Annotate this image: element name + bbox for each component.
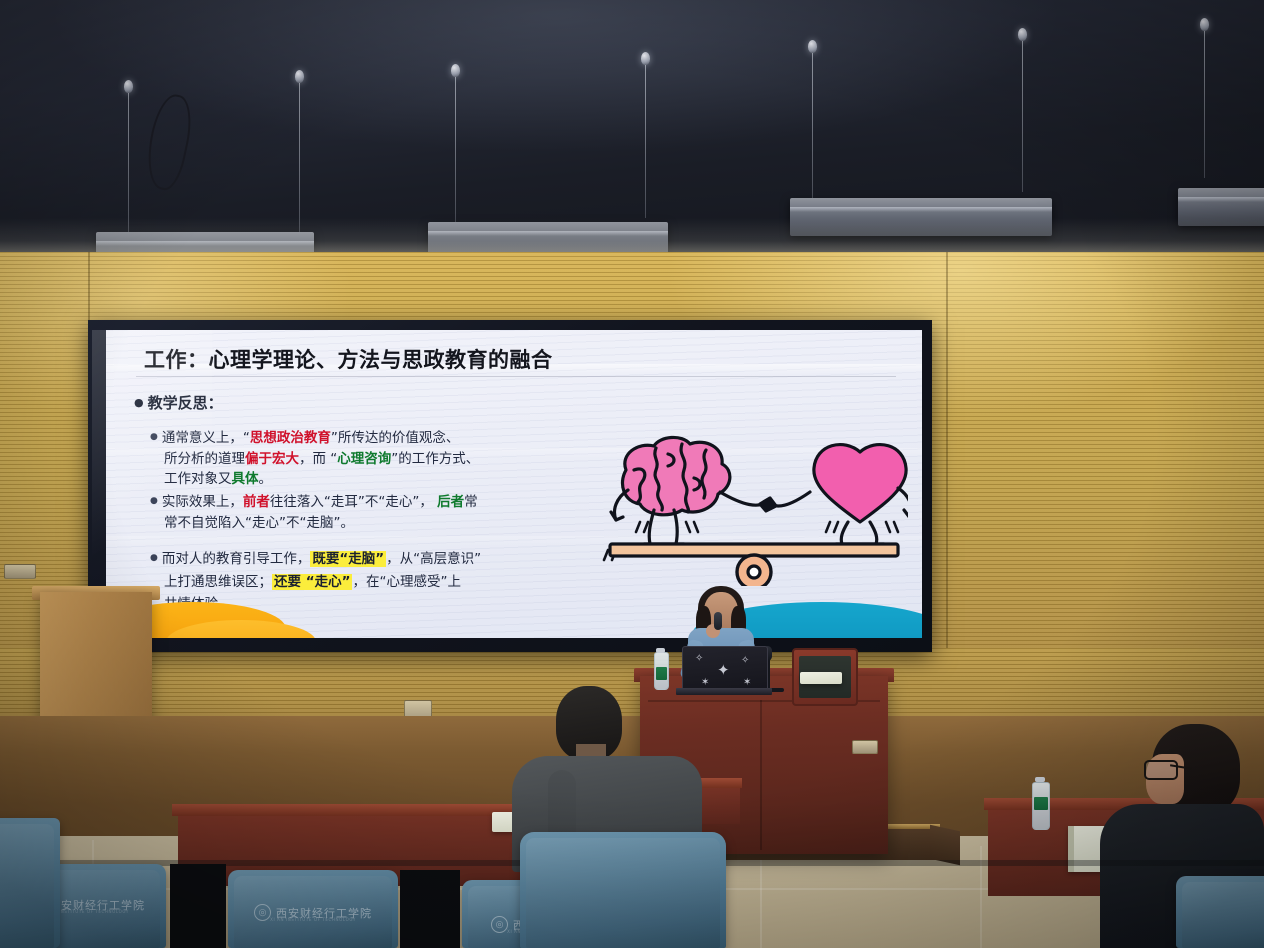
laptop-sticker-icon: ✧ [695,653,703,664]
ceiling-lamp-icon [1018,28,1027,41]
water-bottle[interactable] [1032,782,1050,830]
seat-logo: ◎ 西安财经行工学院 XI AN INSTITUTE OF TECHNOLOGY [228,904,398,921]
auditorium-seat[interactable] [1176,876,1264,948]
bottle-cap [1035,777,1045,782]
brain-icon [622,437,729,514]
brain-leg [649,510,654,544]
ceiling-lamp-icon [641,52,650,65]
laptop[interactable]: ✦ ✧ ✧ ✶ ✶ [682,646,768,692]
presentation-slide: 工作：心理学理论、方法与思政教育的融合 ●教学反思： ●通常意义上，“思想政治教… [106,330,922,638]
auditorium-seat[interactable] [520,832,726,948]
ceiling-lamp-icon [124,80,133,93]
laptop-sticker-icon: ✧ [741,655,749,666]
auditorium-seat[interactable]: ◎ 西安财经行工学院 XI AN INSTITUTE OF TECHNOLOGY [228,870,398,948]
lamp-cable [299,78,300,234]
brain-leg [674,510,677,544]
slide-lead-text: 教学反思： [148,394,223,412]
heart-leg [841,522,848,544]
papers[interactable] [800,672,842,684]
bullet-dot-icon: ● [150,553,158,563]
handheld-microphone-icon [714,612,722,630]
podium [40,592,152,732]
bullet-2-line-2: 常不自觉陷入“走心”不“走脑”。 [150,513,580,534]
desk-label [852,740,878,754]
laptop-sticker-icon: ✦ [717,661,730,679]
bullet-dot-icon: ● [134,396,144,409]
wall-outlet[interactable] [4,564,36,579]
lamp-cable [1022,36,1023,192]
heart-leg [870,522,877,544]
bullet-3-line-2: 上打通思维误区；还要 “走心”，在“心理感受”上 [150,571,600,594]
projection-screen: 工作：心理学理论、方法与思政教育的融合 ●教学反思： ●通常意义上，“思想政治教… [88,320,932,652]
brain-heart-seesaw-illustration [598,426,908,586]
eyeglasses-icon [1144,760,1178,780]
lamp-cable [455,72,456,222]
lamp-cable [812,48,813,204]
ceiling-lamp-icon [295,70,304,83]
ceiling-lamp-icon [808,40,817,53]
bullet-1-line-1: 通常意义上，“思想政治教育”所传达的价值观念、 [162,430,460,446]
heart-icon [814,445,906,522]
slide-bullet-2: ●实际效果上，前者往往落入“走耳”不“走心”， 后者常 常不自觉陷入“走心”不“… [150,492,580,533]
school-name-en: XI AN INSTITUTE OF TECHNOLOGY [228,917,398,922]
water-bottle[interactable] [654,652,669,690]
seesaw-icon [610,544,898,586]
lamp-cable [645,60,646,218]
bullet-dot-icon: ● [150,496,158,506]
bullet-2-line-1: 实际效果上，前者往往落入“走耳”不“走心”， 后者常 [162,494,478,510]
laptop-sticker-icon: ✶ [701,677,709,688]
lecture-hall-photo: 工作：心理学理论、方法与思政教育的融合 ●教学反思： ●通常意义上，“思想政治教… [0,0,1264,948]
title-divider [136,376,896,377]
auditorium-seat[interactable] [0,818,60,948]
laptop-base [676,688,772,695]
ceiling-lamp-icon [451,64,460,77]
bullet-dot-icon: ● [150,432,158,442]
slide-bullet-1: ●通常意义上，“思想政治教育”所传达的价值观念、 所分析的道理偏于宏大，而 “心… [150,428,570,490]
laptop-sticker-icon: ✶ [743,677,751,688]
slide-title: 工作：心理学理论、方法与思政教育的融合 [144,344,553,374]
bullet-1-line-3: 工作对象又具体。 [150,469,570,490]
bullet-1-line-2: 所分析的道理偏于宏大，而 “心理咨询”的工作方式、 [150,449,570,470]
slide-lead-heading: ●教学反思： [134,392,223,413]
bullet-3-line-1: 而对人的教育引导工作，既要“走脑”，从“高层意识” [162,551,481,567]
lamp-cable [1204,26,1205,178]
ceiling-lamp-icon [1200,18,1209,31]
audience-desk-left-top [172,804,534,816]
desk-microphone-stand [768,656,770,690]
bottle-cap [656,648,665,653]
